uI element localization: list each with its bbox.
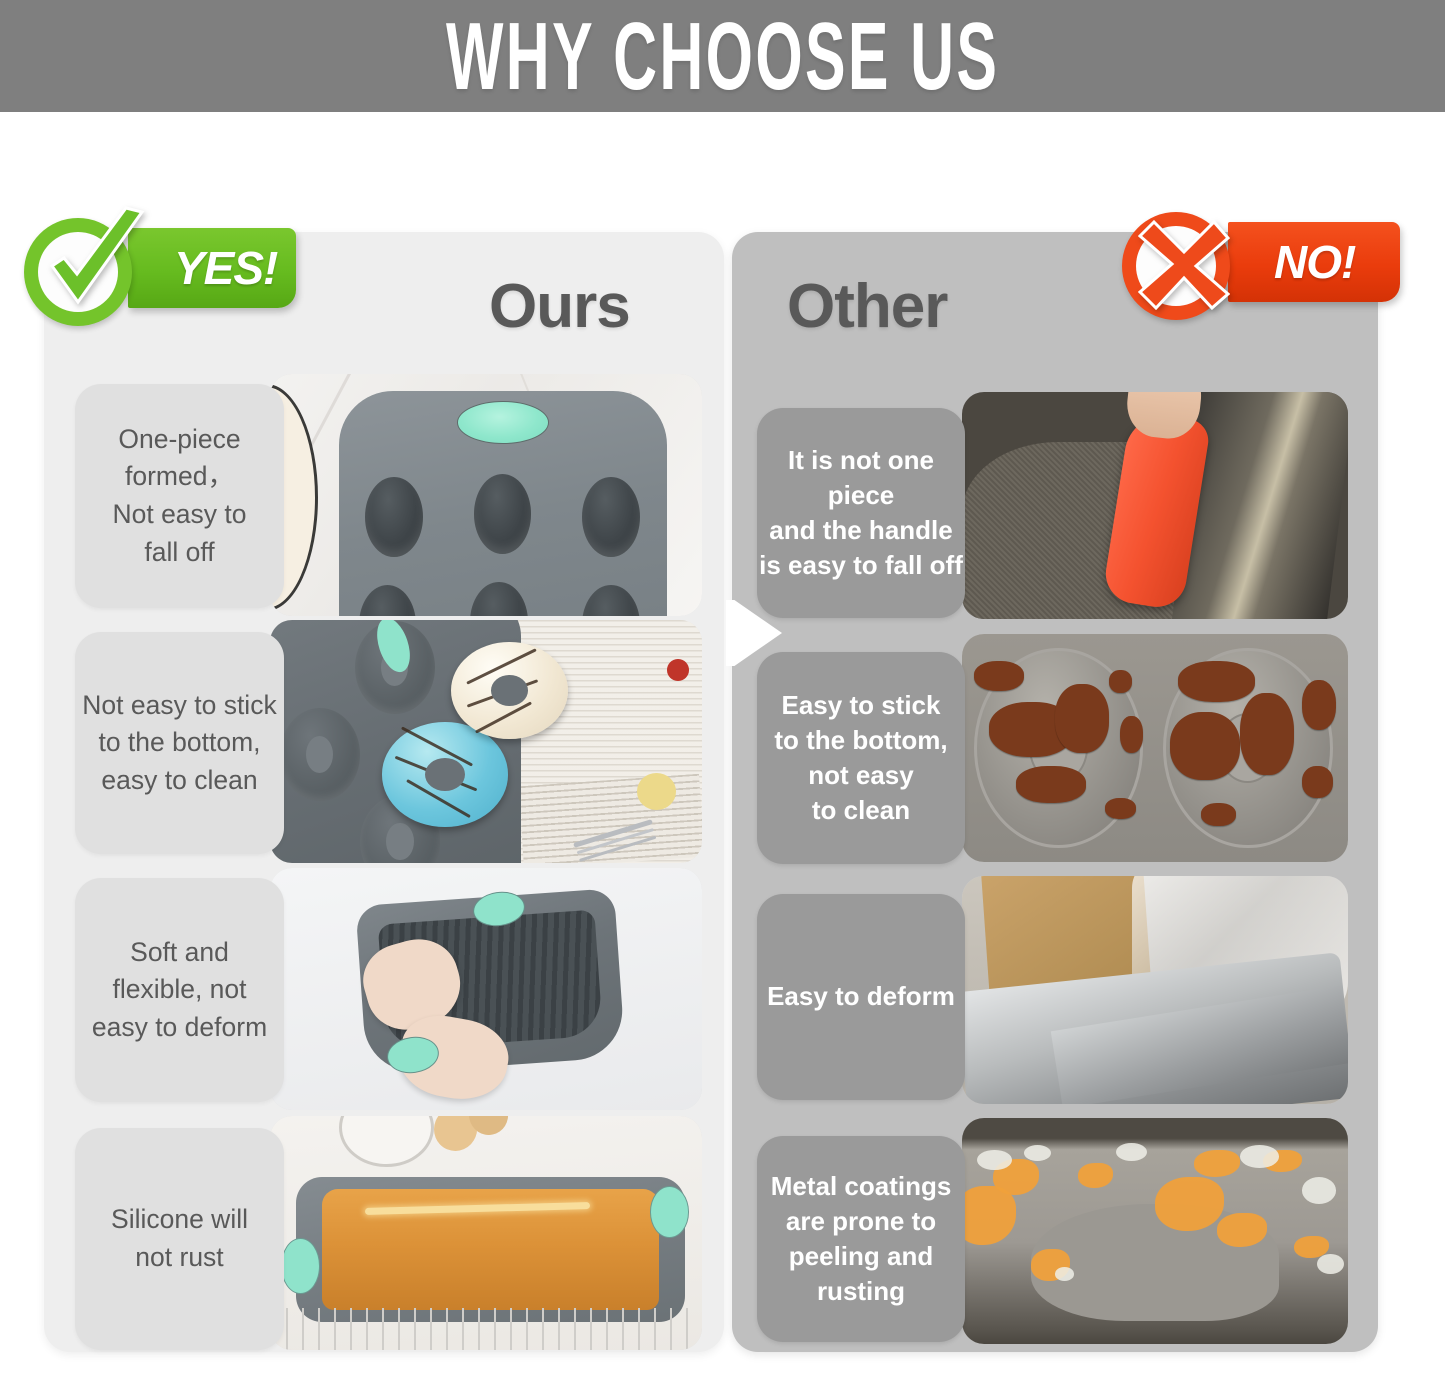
no-badge: NO!: [1122, 206, 1404, 328]
page-title: WHY CHOOSE US: [446, 0, 999, 111]
no-label: NO!: [1274, 235, 1355, 289]
other-label-2-text: Easy to stick to the bottom, not easy to…: [774, 688, 947, 828]
cross-mark-icon: [1138, 218, 1230, 310]
ours-label-3-text: Soft and flexible, not easy to deform: [92, 934, 267, 1047]
other-label-1-text: It is not one piece and the handle is ea…: [757, 443, 965, 583]
ours-label-2-text: Not easy to stick to the bottom, easy to…: [82, 687, 276, 800]
other-label-4-text: Metal coatings are prone to peeling and …: [771, 1169, 952, 1309]
check-mark-icon: [38, 206, 154, 318]
other-photo-1: [962, 392, 1348, 619]
ours-label-3: Soft and flexible, not easy to deform: [75, 878, 284, 1102]
ours-label-4-text: Silicone will not rust: [111, 1201, 248, 1276]
other-label-4: Metal coatings are prone to peeling and …: [757, 1136, 965, 1342]
ours-label-4: Silicone will not rust: [75, 1128, 284, 1350]
header-banner: WHY CHOOSE US: [0, 0, 1445, 112]
other-label-2: Easy to stick to the bottom, not easy to…: [757, 652, 965, 864]
other-photo-2: [962, 634, 1348, 862]
other-photo-4: [962, 1118, 1348, 1344]
yes-label: YES!: [174, 241, 277, 295]
other-label-1: It is not one piece and the handle is ea…: [757, 408, 965, 618]
ours-label-1-text: One-piece formed， Not easy to fall off: [112, 421, 246, 572]
ours-photo-1: [270, 374, 702, 616]
ours-photo-4: [270, 1116, 702, 1350]
ours-label-1: One-piece formed， Not easy to fall off: [75, 384, 284, 608]
ours-photo-2: [270, 620, 702, 863]
ours-photo-3: [270, 868, 702, 1110]
ours-heading: Ours: [489, 271, 630, 342]
yes-badge: YES!: [24, 212, 300, 330]
ours-label-2: Not easy to stick to the bottom, easy to…: [75, 632, 284, 854]
no-ribbon: NO!: [1228, 222, 1400, 302]
other-label-3: Easy to deform: [757, 894, 965, 1100]
other-label-3-text: Easy to deform: [767, 979, 955, 1014]
other-photo-3: [962, 876, 1348, 1104]
other-heading: Other: [787, 271, 947, 342]
